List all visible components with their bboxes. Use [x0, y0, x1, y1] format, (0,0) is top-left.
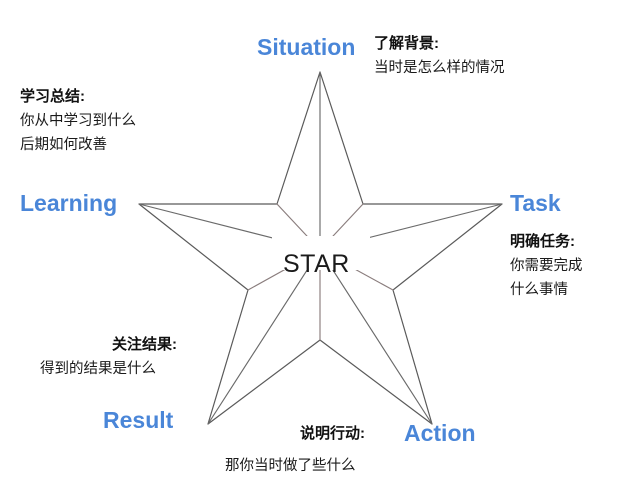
- point-label-situation: Situation: [257, 36, 355, 59]
- note-line-result-0: 得到的结果是什么: [40, 362, 177, 377]
- note-line-learning-0: 你从中学习到什么: [20, 114, 136, 129]
- note-title-situation: 了解背景:: [374, 36, 505, 52]
- point-label-task: Task: [510, 192, 561, 215]
- note-result: 关注结果: 得到的结果是什么: [40, 337, 177, 377]
- point-label-action: Action: [404, 422, 476, 445]
- note-title-action: 说明行动:: [300, 426, 365, 442]
- note-line-action-0: 那你当时做了些什么: [225, 459, 356, 474]
- note-task: 明确任务: 你需要完成 什么事情: [510, 234, 583, 298]
- point-label-result: Result: [103, 409, 173, 432]
- note-title-task: 明确任务:: [510, 234, 583, 250]
- point-label-learning: Learning: [20, 192, 117, 215]
- note-learning: 学习总结: 你从中学习到什么 后期如何改善: [20, 89, 136, 153]
- note-situation: 了解背景: 当时是怎么样的情况: [374, 36, 505, 76]
- note-title-learning: 学习总结:: [20, 89, 136, 105]
- star-diagram-canvas: STAR Situation 了解背景: 当时是怎么样的情况 学习总结: 你从中…: [0, 0, 640, 496]
- note-line-task-0: 你需要完成: [510, 259, 583, 274]
- note-line-situation-0: 当时是怎么样的情况: [374, 61, 505, 76]
- note-title-result: 关注结果:: [112, 337, 177, 353]
- note-line-task-1: 什么事情: [510, 283, 583, 298]
- center-label: STAR: [283, 250, 350, 279]
- note-line-learning-1: 后期如何改善: [20, 138, 136, 153]
